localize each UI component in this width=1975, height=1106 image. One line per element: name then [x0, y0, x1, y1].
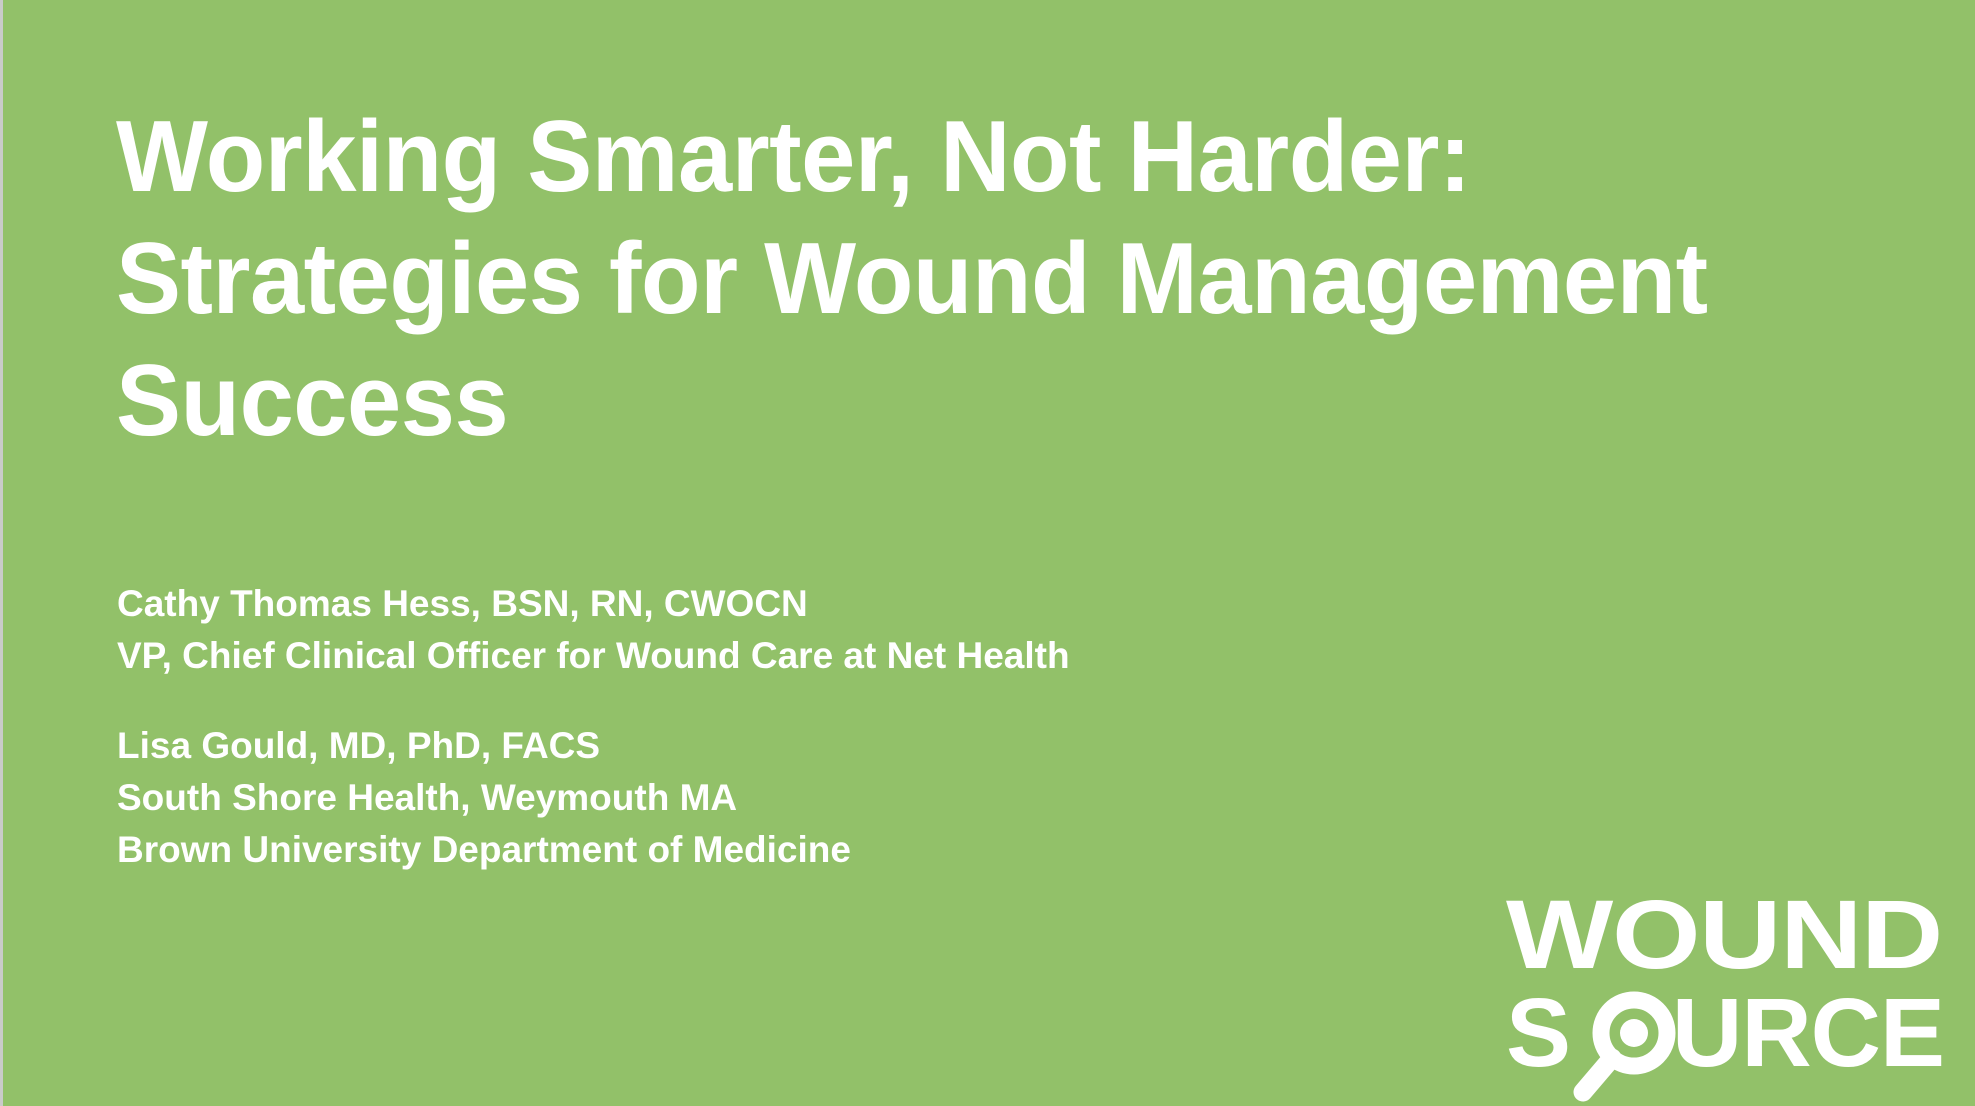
presenter-2-affiliation-1: South Shore Health, Weymouth MA [117, 772, 1417, 824]
title-line-3: Success [116, 340, 1737, 462]
logo-word-source-s: S [1506, 978, 1570, 1087]
presenter-1-affiliation-1: VP, Chief Clinical Officer for Wound Car… [117, 630, 1417, 682]
presenter-2-name: Lisa Gould, MD, PhD, FACS [117, 720, 1417, 772]
logo-word-wound: WOUND [1506, 880, 1942, 989]
left-edge-strip [0, 0, 3, 1106]
presenter-1-name: Cathy Thomas Hess, BSN, RN, CWOCN [117, 578, 1417, 630]
title-line-2: Strategies for Wound Management [116, 218, 1737, 340]
presenter-block-2: Lisa Gould, MD, PhD, FACS South Shore He… [117, 720, 1417, 876]
presentation-slide: Working Smarter, Not Harder: Strategies … [0, 0, 1975, 1106]
presenter-list: Cathy Thomas Hess, BSN, RN, CWOCN VP, Ch… [117, 578, 1417, 876]
title-line-1: Working Smarter, Not Harder: [116, 96, 1737, 218]
page-title: Working Smarter, Not Harder: Strategies … [116, 96, 1796, 462]
presenter-2-affiliation-2: Brown University Department of Medicine [117, 824, 1417, 876]
magnifying-glass-icon [1583, 1000, 1667, 1092]
logo-word-source-urce: URCE [1672, 978, 1944, 1087]
woundsource-logo: WOUND S URCE [1506, 896, 1946, 1096]
presenter-block-1: Cathy Thomas Hess, BSN, RN, CWOCN VP, Ch… [117, 578, 1417, 682]
